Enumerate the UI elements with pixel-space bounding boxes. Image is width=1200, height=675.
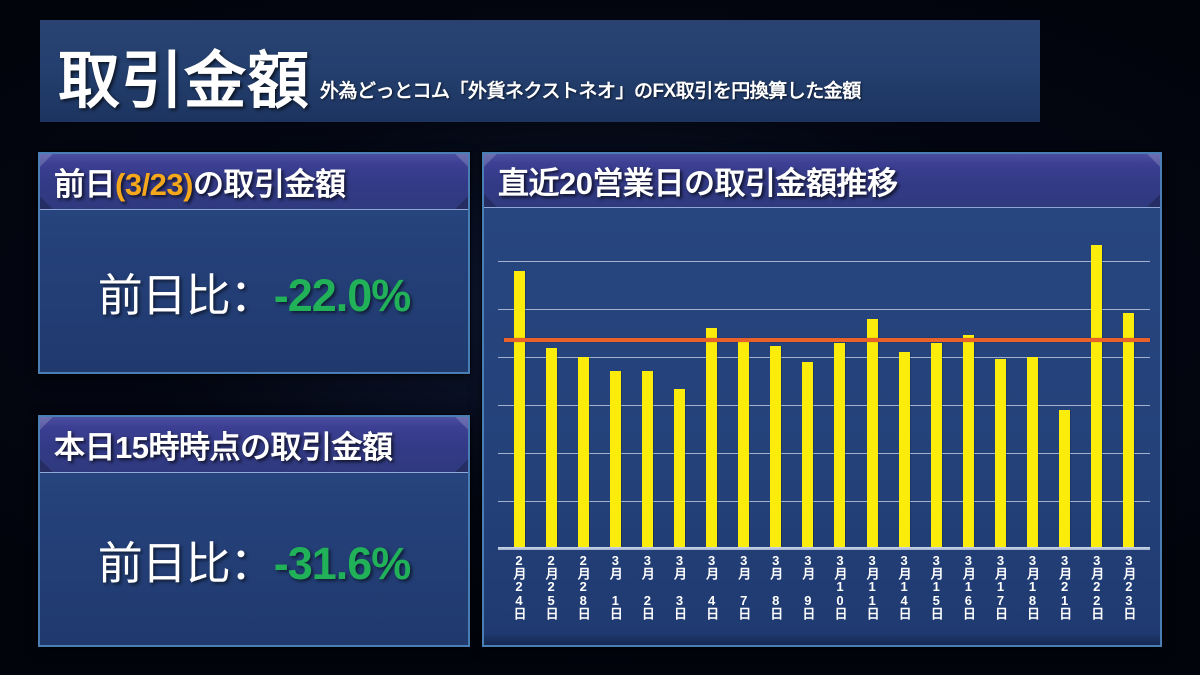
chart-x-label: 3月 8日: [769, 553, 782, 619]
chart-x-label: 3月 2日: [641, 553, 654, 619]
chart-bar-slot: [503, 214, 535, 550]
chart-x-label: 3月21日: [1058, 553, 1071, 619]
chart-x-label: 2月25日: [545, 553, 558, 619]
chart-x-label-slot: 3月10日: [824, 553, 856, 631]
chart-x-axis-labels: 2月24日2月25日2月28日3月 1日3月 2日3月 3日3月 4日3月 7日…: [498, 553, 1150, 631]
chart-bar-slot: [952, 214, 984, 550]
chart-bar-slot: [984, 214, 1016, 550]
chart-plot: [498, 214, 1150, 550]
chart-bar: [770, 346, 781, 550]
chart-x-label-slot: 3月15日: [920, 553, 952, 631]
chart-bar: [1091, 245, 1102, 551]
chart-x-label: 3月16日: [962, 553, 975, 619]
chart-bar-slot: [792, 214, 824, 550]
page-header: 取引金額 外為どっとコム「外貨ネクストネオ」のFX取引を円換算した金額: [40, 20, 1040, 122]
chart-bar: [578, 357, 589, 550]
chart-bar: [1123, 313, 1134, 550]
previous-day-panel: 前日(3/23)の取引金額 前日比：-22.0%: [38, 152, 470, 374]
chart-bars: [498, 214, 1150, 550]
chart-bar-slot: [567, 214, 599, 550]
chart-x-label: 3月 1日: [609, 553, 622, 619]
chart-x-label: 3月14日: [898, 553, 911, 619]
chart-bar-slot: [1049, 214, 1081, 550]
chart-x-label: 3月22日: [1090, 553, 1103, 619]
chart-bar-slot: [856, 214, 888, 550]
today-15h-panel: 本日15時時点の取引金額 前日比：-31.6%: [38, 415, 470, 647]
chart-bar: [834, 343, 845, 550]
chart-x-label-slot: 3月22日: [1081, 553, 1113, 631]
previous-day-panel-body: 前日比：-22.0%: [40, 210, 468, 372]
chart-bar-slot: [1017, 214, 1049, 550]
chart-bar: [867, 319, 878, 550]
today-15h-value-row: 前日比：-31.6%: [98, 527, 411, 592]
previous-day-value: -22.0%: [274, 270, 411, 321]
chart-bar-slot: [663, 214, 695, 550]
chart-x-label-slot: 3月 4日: [696, 553, 728, 631]
chart-x-label-slot: 3月21日: [1049, 553, 1081, 631]
chart-bar-slot: [631, 214, 663, 550]
chart-x-label: 3月18日: [1026, 553, 1039, 619]
chart-x-label: 3月 3日: [673, 553, 686, 619]
chart-x-label-slot: 3月 1日: [599, 553, 631, 631]
chart-x-label-slot: 3月16日: [952, 553, 984, 631]
chart-area: 2月24日2月25日2月28日3月 1日3月 2日3月 3日3月 4日3月 7日…: [484, 208, 1160, 645]
chart-footer-shadow: [484, 633, 1160, 645]
chart-bar-slot: [599, 214, 631, 550]
chart-bar: [674, 389, 685, 550]
chart-baseline-axis: [498, 547, 1150, 550]
chart-average-line: [504, 338, 1150, 342]
chart-x-label-slot: 3月18日: [1017, 553, 1049, 631]
chart-x-label: 3月23日: [1122, 553, 1135, 619]
chart-bar: [642, 371, 653, 550]
chart-bar: [931, 343, 942, 550]
chart-bar: [610, 371, 621, 550]
today-15h-value-label: 前日比：: [98, 538, 274, 589]
previous-day-value-row: 前日比：-22.0%: [98, 259, 411, 324]
chart-x-label: 2月24日: [513, 553, 526, 619]
previous-day-heading-date: (3/23): [115, 167, 193, 202]
chart-bar: [546, 348, 557, 550]
chart-bar: [1027, 357, 1038, 550]
chart-bar-slot: [824, 214, 856, 550]
chart-x-label-slot: 3月 8日: [760, 553, 792, 631]
chart-x-label-slot: 2月25日: [535, 553, 567, 631]
chart-x-label-slot: 3月 7日: [728, 553, 760, 631]
chart-bar-slot: [760, 214, 792, 550]
chart-x-label-slot: 2月28日: [567, 553, 599, 631]
previous-day-heading-prefix: 前日: [54, 167, 115, 202]
chart-x-label-slot: 3月17日: [984, 553, 1016, 631]
chart-bar-slot: [1113, 214, 1145, 550]
previous-day-panel-title: 前日(3/23)の取引金額: [54, 159, 345, 204]
chart-bar-slot: [1081, 214, 1113, 550]
chart-panel-header: 直近20営業日の取引金額推移: [484, 154, 1160, 208]
today-15h-panel-body: 前日比：-31.6%: [40, 473, 468, 645]
previous-day-panel-header: 前日(3/23)の取引金額: [40, 154, 468, 210]
previous-day-value-label: 前日比：: [98, 270, 274, 321]
today-15h-panel-header: 本日15時時点の取引金額: [40, 417, 468, 473]
chart-bar: [1059, 410, 1070, 550]
chart-bar: [899, 352, 910, 550]
chart-x-label: 2月28日: [577, 553, 590, 619]
today-15h-panel-title: 本日15時時点の取引金額: [54, 422, 392, 467]
chart-bar: [802, 362, 813, 550]
chart-bar-slot: [535, 214, 567, 550]
chart-x-label-slot: 3月 2日: [631, 553, 663, 631]
chart-bar: [963, 335, 974, 550]
page-title: 取引金額: [58, 53, 310, 112]
previous-day-heading-suffix: の取引金額: [193, 167, 346, 202]
chart-x-label: 3月 9日: [801, 553, 814, 619]
chart-x-label: 3月 7日: [737, 553, 750, 619]
chart-x-label-slot: 3月 9日: [792, 553, 824, 631]
chart-x-label: 3月15日: [930, 553, 943, 619]
chart-bar-slot: [888, 214, 920, 550]
chart-x-label-slot: 2月24日: [503, 553, 535, 631]
chart-bar: [514, 271, 525, 550]
chart-bar: [995, 359, 1006, 550]
chart-x-label: 3月11日: [866, 553, 879, 619]
chart-bar-slot: [920, 214, 952, 550]
chart-bar: [706, 328, 717, 550]
chart-bar-slot: [696, 214, 728, 550]
chart-x-label: 3月17日: [994, 553, 1007, 619]
chart-bar-slot: [728, 214, 760, 550]
chart-x-label-slot: 3月11日: [856, 553, 888, 631]
chart-bar: [738, 340, 749, 550]
today-15h-value: -31.6%: [274, 538, 411, 589]
chart-x-label-slot: 3月 3日: [663, 553, 695, 631]
chart-x-label: 3月 4日: [705, 553, 718, 619]
chart-x-label: 3月10日: [833, 553, 846, 619]
chart-x-label-slot: 3月23日: [1113, 553, 1145, 631]
chart-panel-title: 直近20営業日の取引金額推移: [498, 158, 897, 203]
chart-x-label-slot: 3月14日: [888, 553, 920, 631]
page-subtitle: 外為どっとコム「外貨ネクストネオ」のFX取引を円換算した金額: [320, 76, 861, 112]
chart-panel: 直近20営業日の取引金額推移 2月24日2月25日2月28日3月 1日3月 2日…: [482, 152, 1162, 647]
